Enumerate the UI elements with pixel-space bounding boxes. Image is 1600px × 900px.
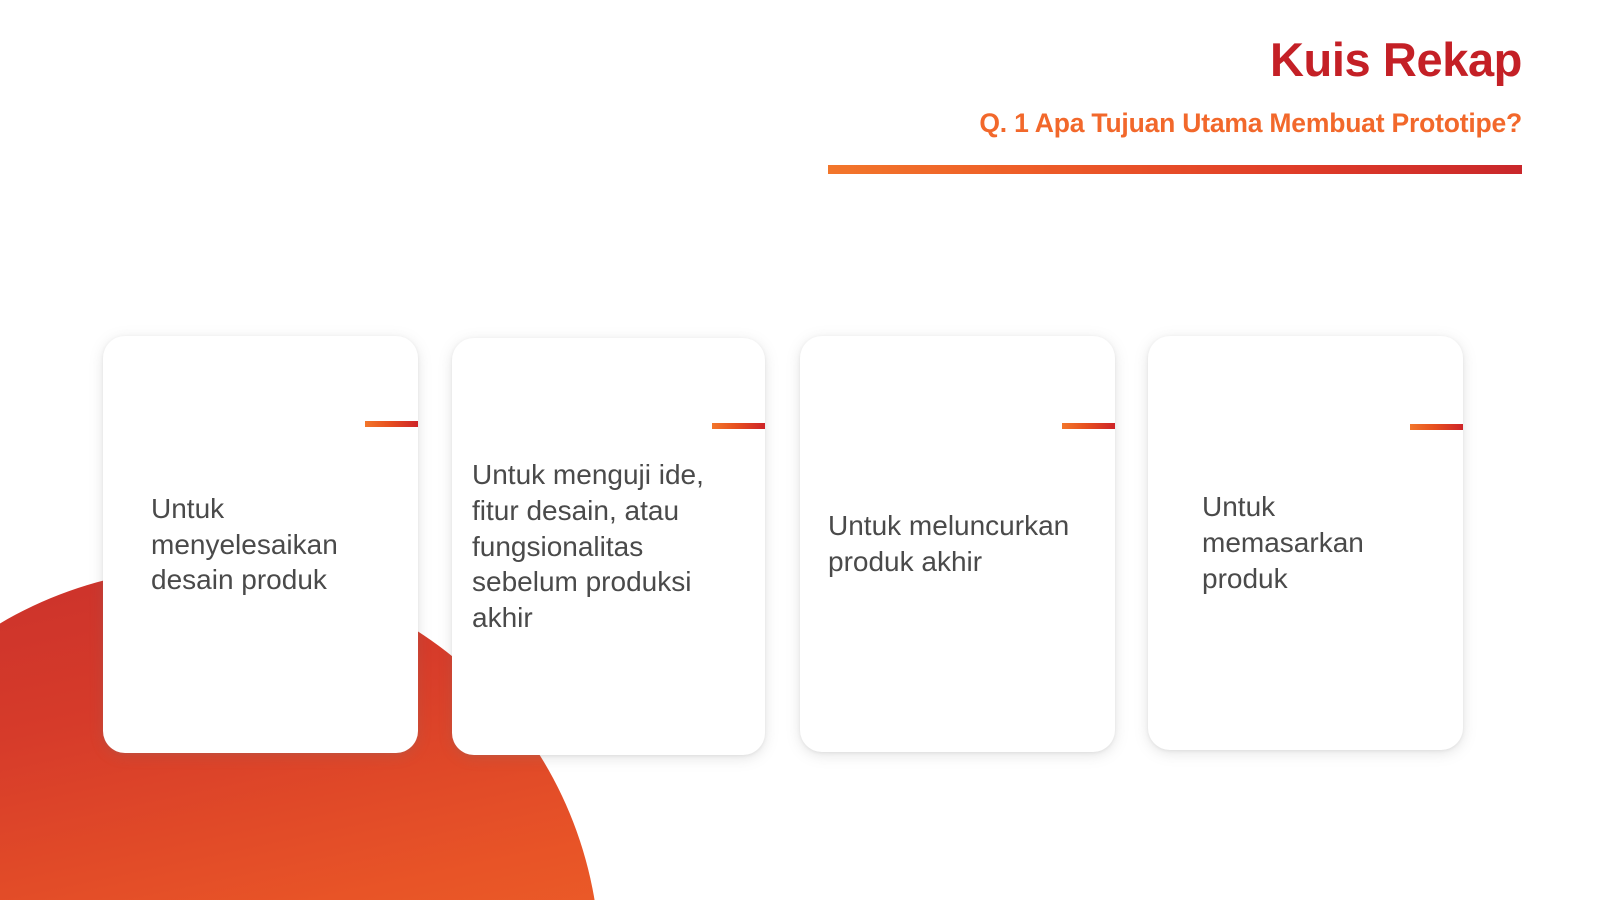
accent-bar-icon (712, 423, 765, 429)
page-title: Kuis Rekap (828, 0, 1522, 83)
slide-header: Kuis Rekap Q. 1 Apa Tujuan Utama Membuat… (828, 0, 1522, 174)
answer-card-label: Untuk menguji ide, fitur desain, atau fu… (452, 457, 765, 636)
accent-bar-icon (1062, 423, 1115, 429)
answer-card-label: Untuk meluncurkan produk akhir (800, 508, 1115, 580)
quiz-question-text: Q. 1 Apa Tujuan Utama Membuat Prototipe? (828, 83, 1522, 137)
answer-card[interactable]: Untuk menguji ide, fitur desain, atau fu… (452, 338, 765, 755)
quiz-slide: Kuis Rekap Q. 1 Apa Tujuan Utama Membuat… (0, 0, 1600, 900)
answer-card[interactable]: Untuk memasarkan produk (1148, 336, 1463, 750)
answer-card[interactable]: Untuk meluncurkan produk akhir (800, 336, 1115, 752)
answer-card[interactable]: Untuk menyelesaikan desain produk (103, 336, 418, 753)
accent-bar-icon (1410, 424, 1463, 430)
answer-card-label: Untuk menyelesaikan desain produk (103, 491, 418, 598)
accent-bar-icon (365, 421, 418, 427)
header-divider-rule (828, 165, 1522, 174)
answer-card-label: Untuk memasarkan produk (1148, 489, 1463, 596)
